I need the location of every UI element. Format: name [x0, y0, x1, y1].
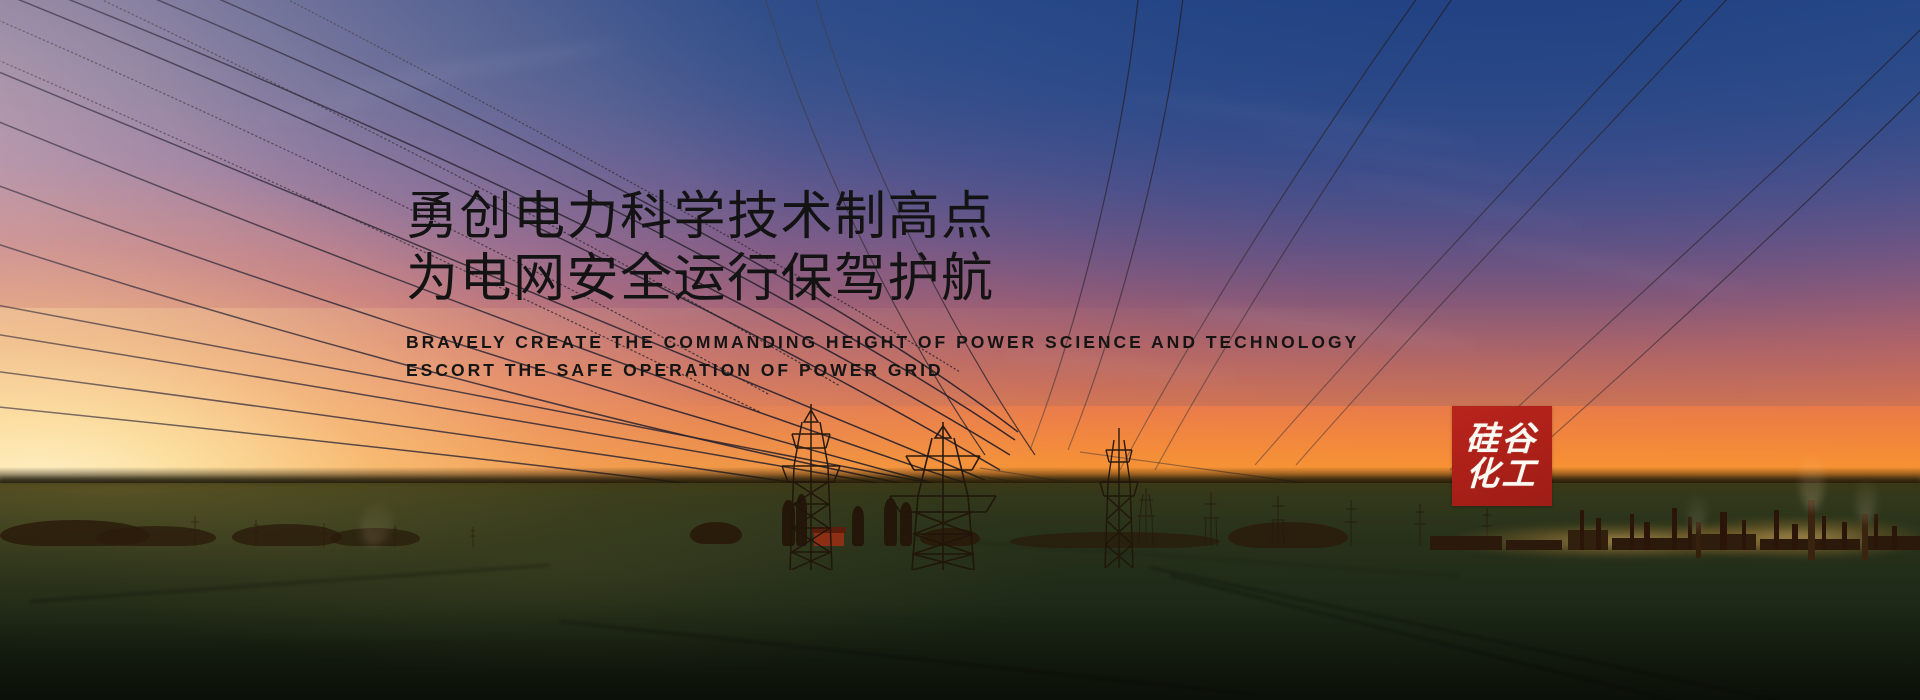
- subheadline-en-line-2: ESCORT THE SAFE OPERATION OF POWER GRID: [406, 356, 1359, 384]
- subheadline-block: BRAVELY CREATE THE COMMANDING HEIGHT OF …: [406, 328, 1359, 385]
- headline-cn-line-1: 勇创电力科学技术制高点: [406, 186, 1359, 248]
- headline-block: 勇创电力科学技术制高点 为电网安全运行保驾护航 BRAVELY CREATE T…: [406, 186, 1359, 384]
- refinery-silhouette: [1430, 508, 1920, 552]
- logo-text-row-1: 硅谷: [1465, 422, 1539, 456]
- company-logo-stamp[interactable]: 硅谷 化工: [1452, 406, 1552, 506]
- pylon-left: [780, 404, 842, 570]
- logo-text-row-2: 化工: [1465, 457, 1539, 491]
- subheadline-en-line-1: BRAVELY CREATE THE COMMANDING HEIGHT OF …: [406, 328, 1359, 356]
- headline-cn-line-2: 为电网安全运行保驾护航: [406, 248, 1359, 310]
- hero-banner: 勇创电力科学技术制高点 为电网安全运行保驾护航 BRAVELY CREATE T…: [0, 0, 1920, 700]
- pylon-center: [888, 422, 998, 570]
